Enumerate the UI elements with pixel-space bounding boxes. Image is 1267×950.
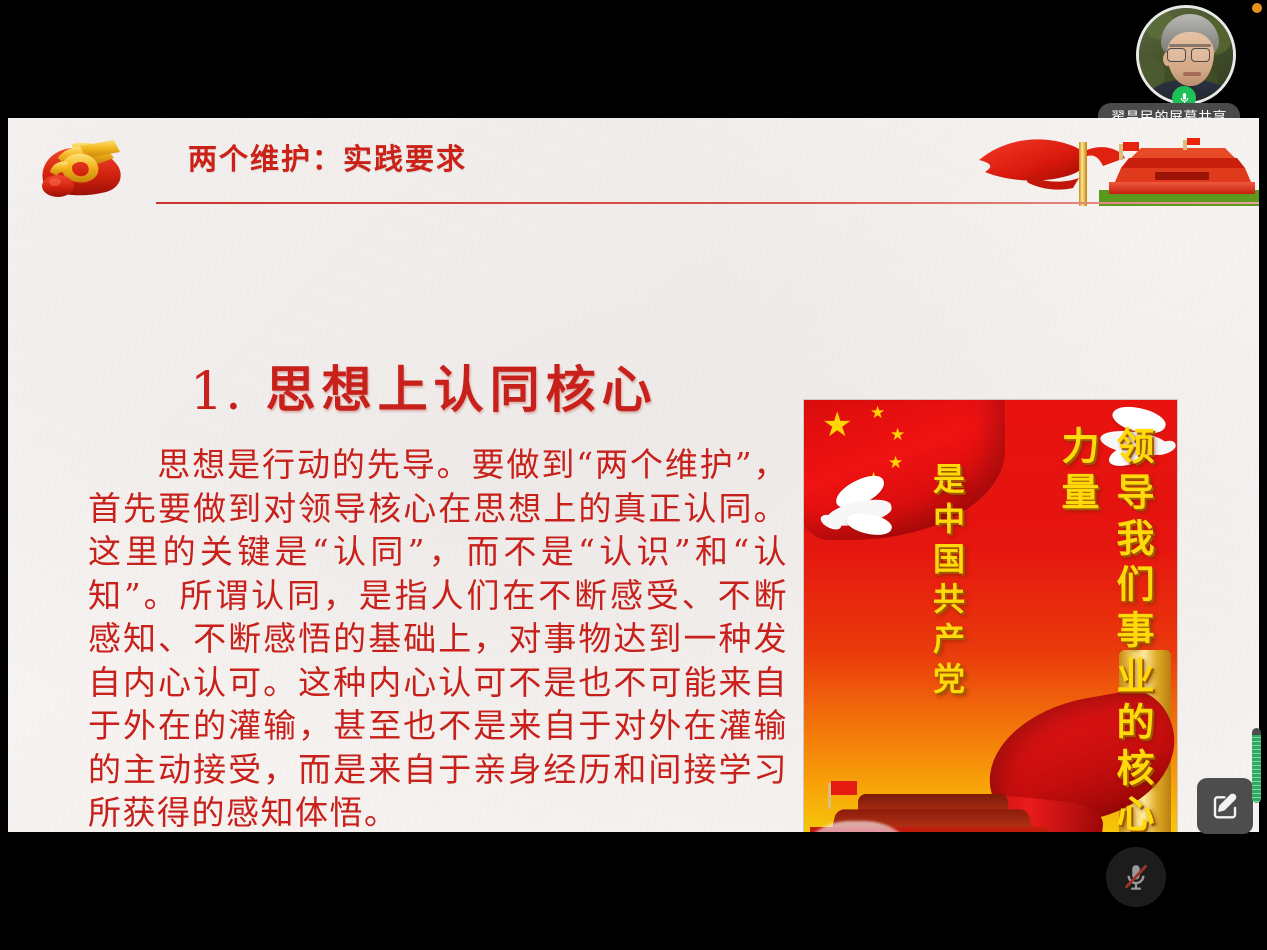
slide-header-title: 两个维护：实践要求: [188, 136, 467, 178]
tiananmen-flag-illustration: [969, 124, 1259, 206]
annotate-button[interactable]: [1197, 778, 1253, 834]
screen-share-window: 翟昌民的屏幕共享: [0, 0, 1267, 950]
annotate-pen-icon: [1210, 791, 1240, 821]
party-emblem-icon: [28, 128, 158, 200]
body-paragraph: 思想是行动的先导。要做到“两个维护”，首先要做到对领导核心在思想上的真正认同。这…: [88, 443, 788, 832]
flag-star-small: ★: [888, 454, 903, 471]
slide-header: 两个维护：实践要求: [8, 118, 1259, 208]
scrollbar-thumb[interactable]: [1252, 728, 1261, 803]
microphone-muted-icon: [1121, 862, 1151, 892]
meeting-top-bar: 翟昌民的屏幕共享: [0, 0, 1267, 118]
flag-star-small: ★: [870, 404, 885, 421]
propaganda-poster-image: ★ ★ ★ ★ ★ 领导我们事业的核心力量 是中国共产党: [803, 399, 1178, 832]
section-number: 1.: [190, 362, 244, 422]
flag-star-large: ★: [822, 408, 852, 442]
poster-text-right-column: 领导我们事业的核心力量: [1050, 426, 1160, 832]
dove-left-icon: [820, 480, 906, 550]
header-divider: [156, 202, 1259, 204]
slide-body-text: 思想是行动的先导。要做到“两个维护”，首先要做到对领导核心在思想上的真正认同。这…: [88, 443, 788, 832]
flag-star-small: ★: [890, 426, 905, 443]
tiananmen-gate-graphic: 中华人民共和国万岁: [804, 765, 1064, 832]
microphone-toggle-button[interactable]: [1106, 847, 1166, 907]
section-title-text: 思想上认同核心: [266, 360, 658, 419]
scrollbar-track[interactable]: [1252, 118, 1263, 832]
shared-slide[interactable]: 两个维护：实践要求: [8, 118, 1259, 832]
section-heading: 1.思想上认同核心: [190, 350, 658, 422]
